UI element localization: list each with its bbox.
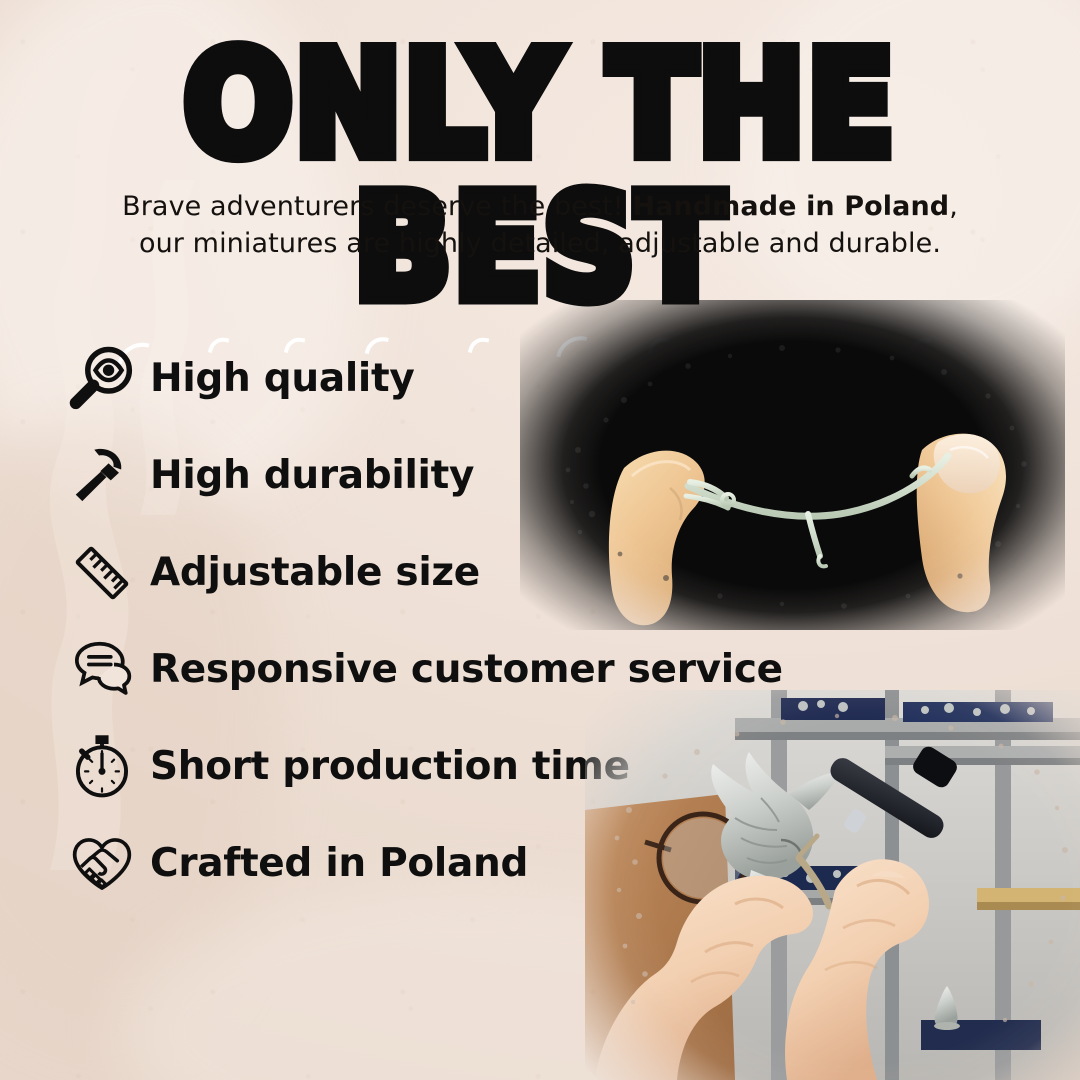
right-finger [917,434,1006,613]
subtitle-line1-bold: Handmade in Poland [632,191,949,222]
stopwatch-icon [62,731,142,803]
page-title: ONLY THE BEST [0,34,1080,321]
flexible-miniature-photo-inner [520,300,1065,630]
heart-handshake-icon [62,828,142,900]
hammer-icon [62,440,142,512]
subtitle-line-1: Brave adventurers deserve the best! Hand… [0,188,1080,225]
infographic-canvas: ONLY THE BEST Brave adventurers deserve … [0,0,1080,1080]
feature-label: High quality [150,356,414,401]
left-finger [609,451,705,626]
feature-label: Short production time [150,744,630,789]
feature-label: Adjustable size [150,550,480,595]
flexible-miniature-photo [520,300,1065,630]
magnifier-eye-icon [62,343,142,415]
flexible-miniature-part [686,456,948,566]
feature-label: Crafted in Poland [150,841,528,886]
flexible-miniature-scene [520,300,1065,630]
subtitle-line1-prefix: Brave adventurers deserve the best! [122,191,632,222]
speech-bubbles-icon [62,634,142,706]
feature-label: High durability [150,453,474,498]
ruler-icon [62,537,142,609]
workshop-scene [585,690,1080,1080]
feature-label: Responsive customer service [150,647,783,692]
subtitle-line-2: our miniatures are highly detailed, adju… [0,225,1080,262]
workshop-painting-photo [585,690,1080,1080]
subtitle: Brave adventurers deserve the best! Hand… [0,188,1080,263]
subtitle-line1-suffix: , [949,191,958,222]
workshop-painting-photo-inner [585,690,1080,1080]
